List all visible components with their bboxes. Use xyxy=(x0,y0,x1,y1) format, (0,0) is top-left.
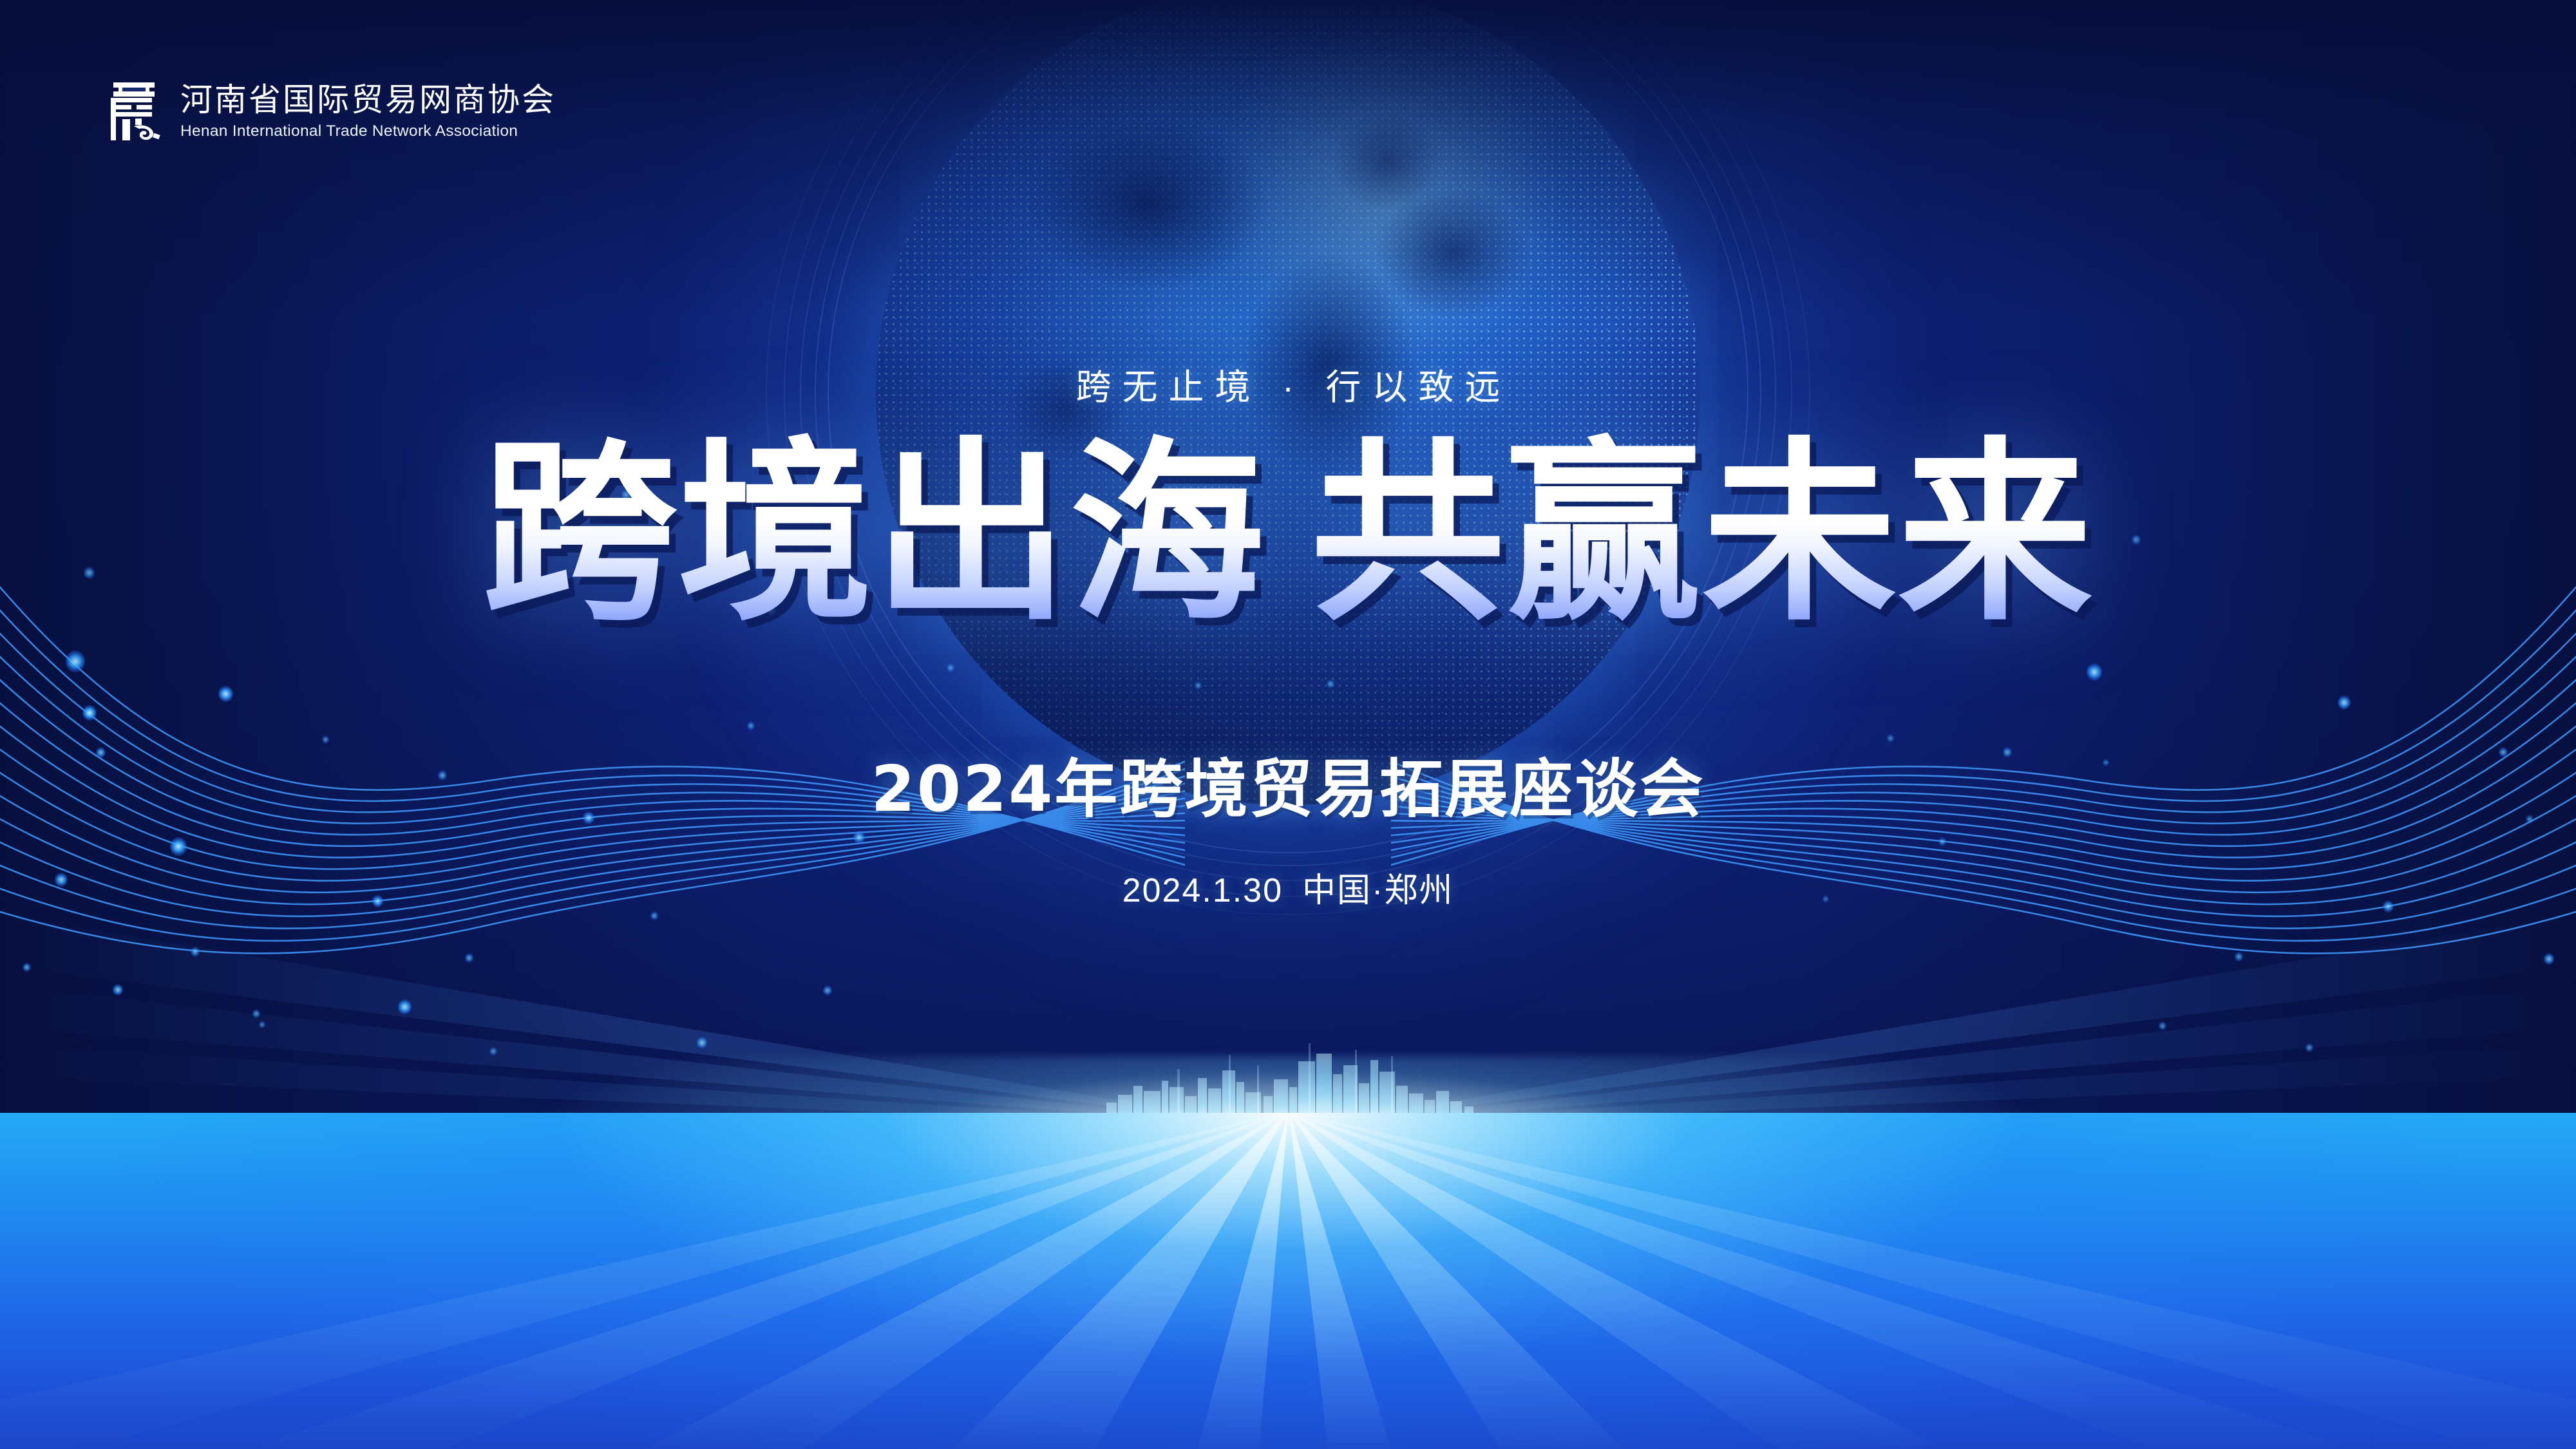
page-title: 跨境出海共赢未来 xyxy=(0,431,2576,638)
light-rays-icon xyxy=(0,1113,2576,1449)
event-info: 2024.1.30中国·郑州 xyxy=(0,863,2576,911)
title-right: 共赢未来 xyxy=(1311,421,2094,647)
subtitle: 2024年跨境贸易拓展座谈会 xyxy=(0,738,2576,829)
tagline: 跨无止境 · 行以致远 xyxy=(0,358,2576,410)
poster-canvas: 河南省国际贸易网商协会 Henan International Trade Ne… xyxy=(0,0,2576,1449)
event-date: 2024.1.30 xyxy=(1122,872,1283,909)
event-location: 中国·郑州 xyxy=(1302,872,1454,909)
henan-trade-seal-logo-icon xyxy=(103,79,165,146)
logo-name-en: Henan International Trade Network Associ… xyxy=(180,122,556,140)
title-left: 跨境出海 xyxy=(482,421,1265,647)
logo-name-cn: 河南省国际贸易网商协会 xyxy=(180,83,556,117)
logo-text-block: 河南省国际贸易网商协会 Henan International Trade Ne… xyxy=(180,83,556,140)
association-logo: 河南省国际贸易网商协会 Henan International Trade Ne… xyxy=(103,79,556,146)
